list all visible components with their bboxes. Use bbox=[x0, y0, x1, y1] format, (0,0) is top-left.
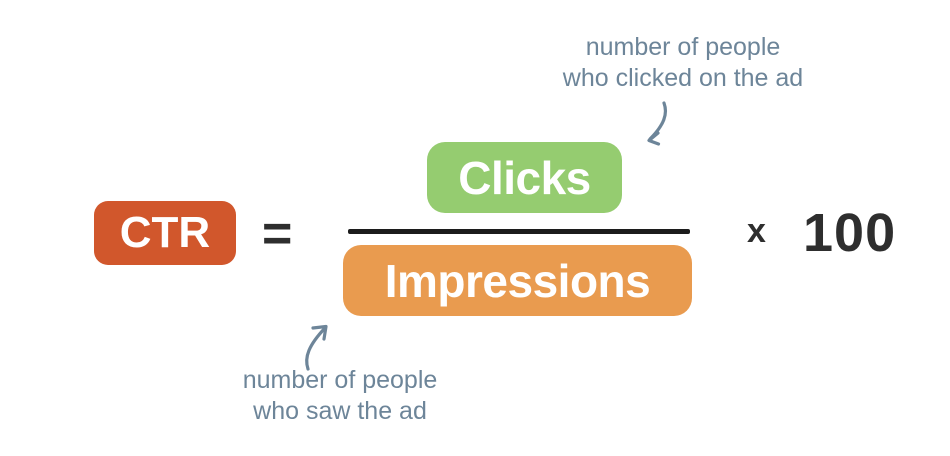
impressions-denominator-badge: Impressions bbox=[343, 245, 692, 316]
multiplier-value: 100 bbox=[803, 206, 896, 260]
arrow-up-right-icon bbox=[298, 320, 354, 372]
clicks-annotation-line-1: number of people bbox=[513, 32, 853, 63]
clicks-annotation: number of people who clicked on the ad bbox=[513, 32, 853, 94]
multiply-operator: x bbox=[747, 214, 766, 248]
impressions-annotation: number of people who saw the ad bbox=[190, 365, 490, 427]
ctr-label: CTR bbox=[120, 208, 210, 258]
fraction-bar bbox=[348, 229, 690, 234]
arrow-down-left-icon bbox=[618, 100, 674, 152]
formula-diagram-canvas: CTR = Clicks Impressions x 100 number of… bbox=[0, 0, 950, 456]
clicks-numerator-badge: Clicks bbox=[427, 142, 622, 213]
ctr-metric-badge: CTR bbox=[94, 201, 236, 265]
impressions-annotation-line-2: who saw the ad bbox=[190, 396, 490, 427]
impressions-label: Impressions bbox=[385, 254, 651, 308]
clicks-label: Clicks bbox=[458, 151, 591, 205]
equals-operator: = bbox=[262, 208, 292, 260]
clicks-annotation-line-2: who clicked on the ad bbox=[513, 63, 853, 94]
